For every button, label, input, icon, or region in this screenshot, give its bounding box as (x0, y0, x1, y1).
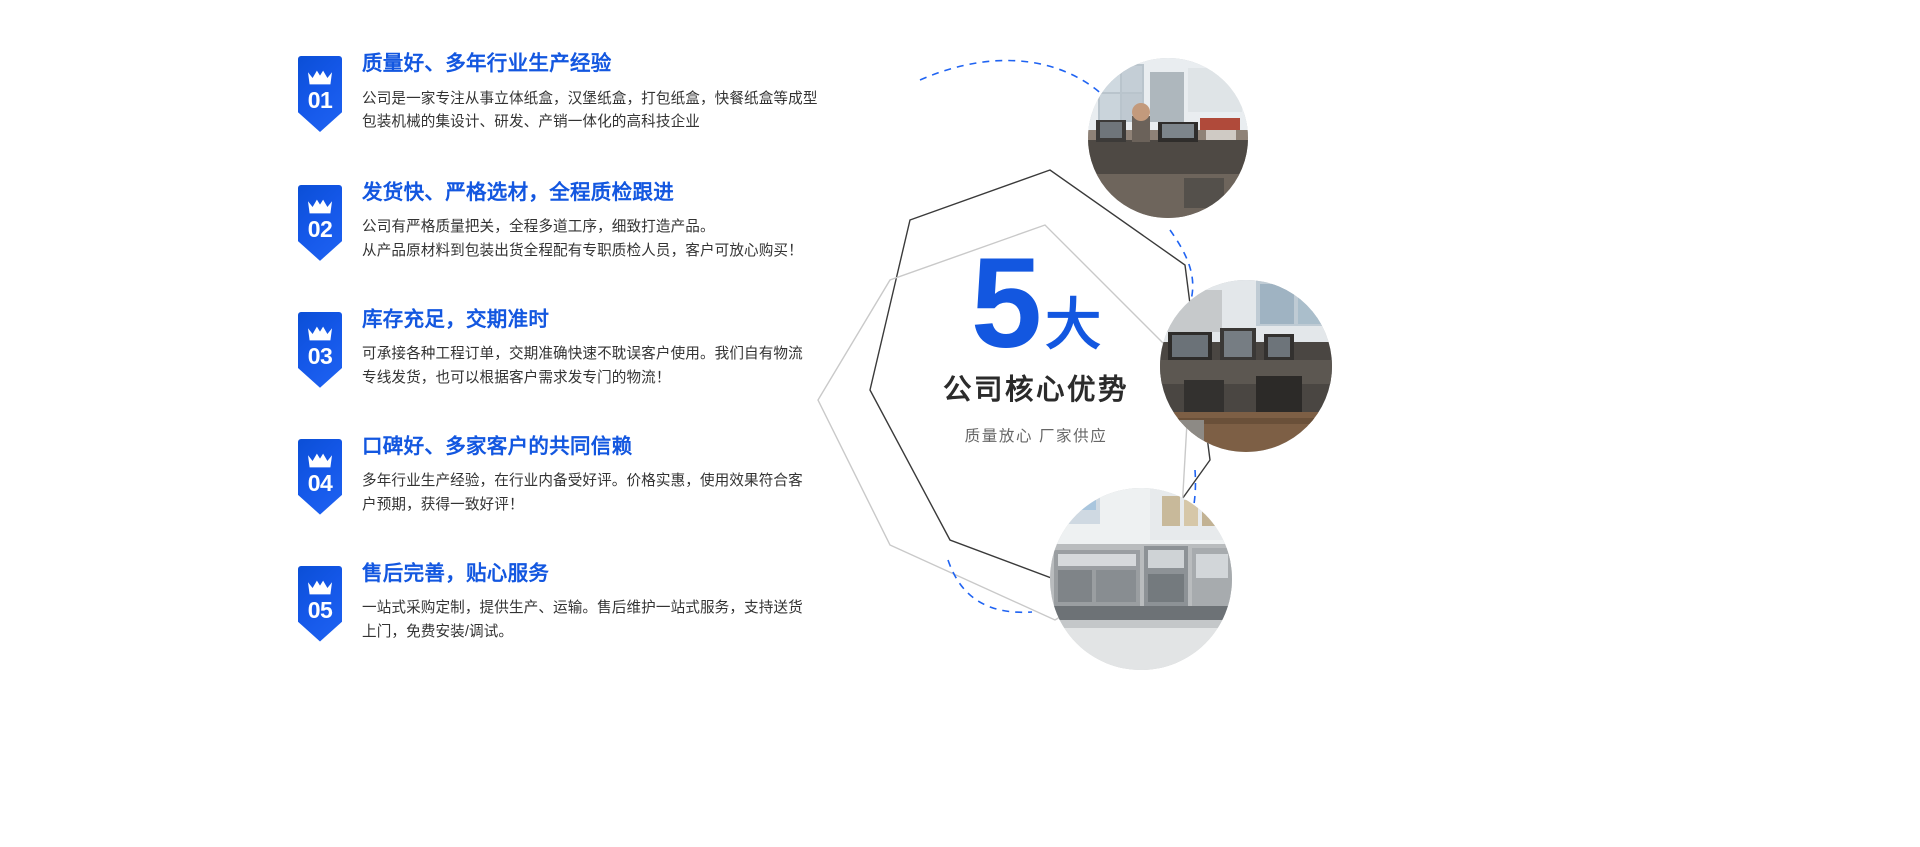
badge-number: 05 (298, 599, 342, 622)
dashed-arc-top (920, 60, 1110, 102)
badge-number: 04 (298, 472, 342, 495)
badge-02: 02 (298, 185, 342, 261)
badge-number: 01 (298, 89, 342, 112)
crown-icon (307, 325, 333, 342)
photo-2-art (1160, 280, 1332, 452)
photo-1-art (1088, 58, 1248, 218)
crown-icon (307, 198, 333, 215)
badge-01: 01 (298, 56, 342, 132)
photo-office-desks[interactable] (1160, 280, 1332, 452)
badge-04: 04 (298, 439, 342, 515)
badge-number: 02 (298, 218, 342, 241)
crown-icon (307, 69, 333, 86)
photo-office-workstation[interactable] (1088, 58, 1248, 218)
badge-number: 03 (298, 345, 342, 368)
crown-icon (307, 579, 333, 596)
badge-05: 05 (298, 566, 342, 642)
badge-03: 03 (298, 312, 342, 388)
photo-packaging-machine[interactable] (1050, 488, 1232, 670)
crown-icon (307, 452, 333, 469)
advantages-banner: 01 质量好、多年行业生产经验 公司是一家专注从事立体纸盒，汉堡纸盒，打包纸盒，… (0, 0, 1920, 847)
hexagon-decoration (770, 40, 1920, 810)
photo-3-art (1050, 488, 1232, 670)
hero-graphic: 5 大 公司核心优势 质量放心 厂家供应 (770, 40, 1920, 810)
